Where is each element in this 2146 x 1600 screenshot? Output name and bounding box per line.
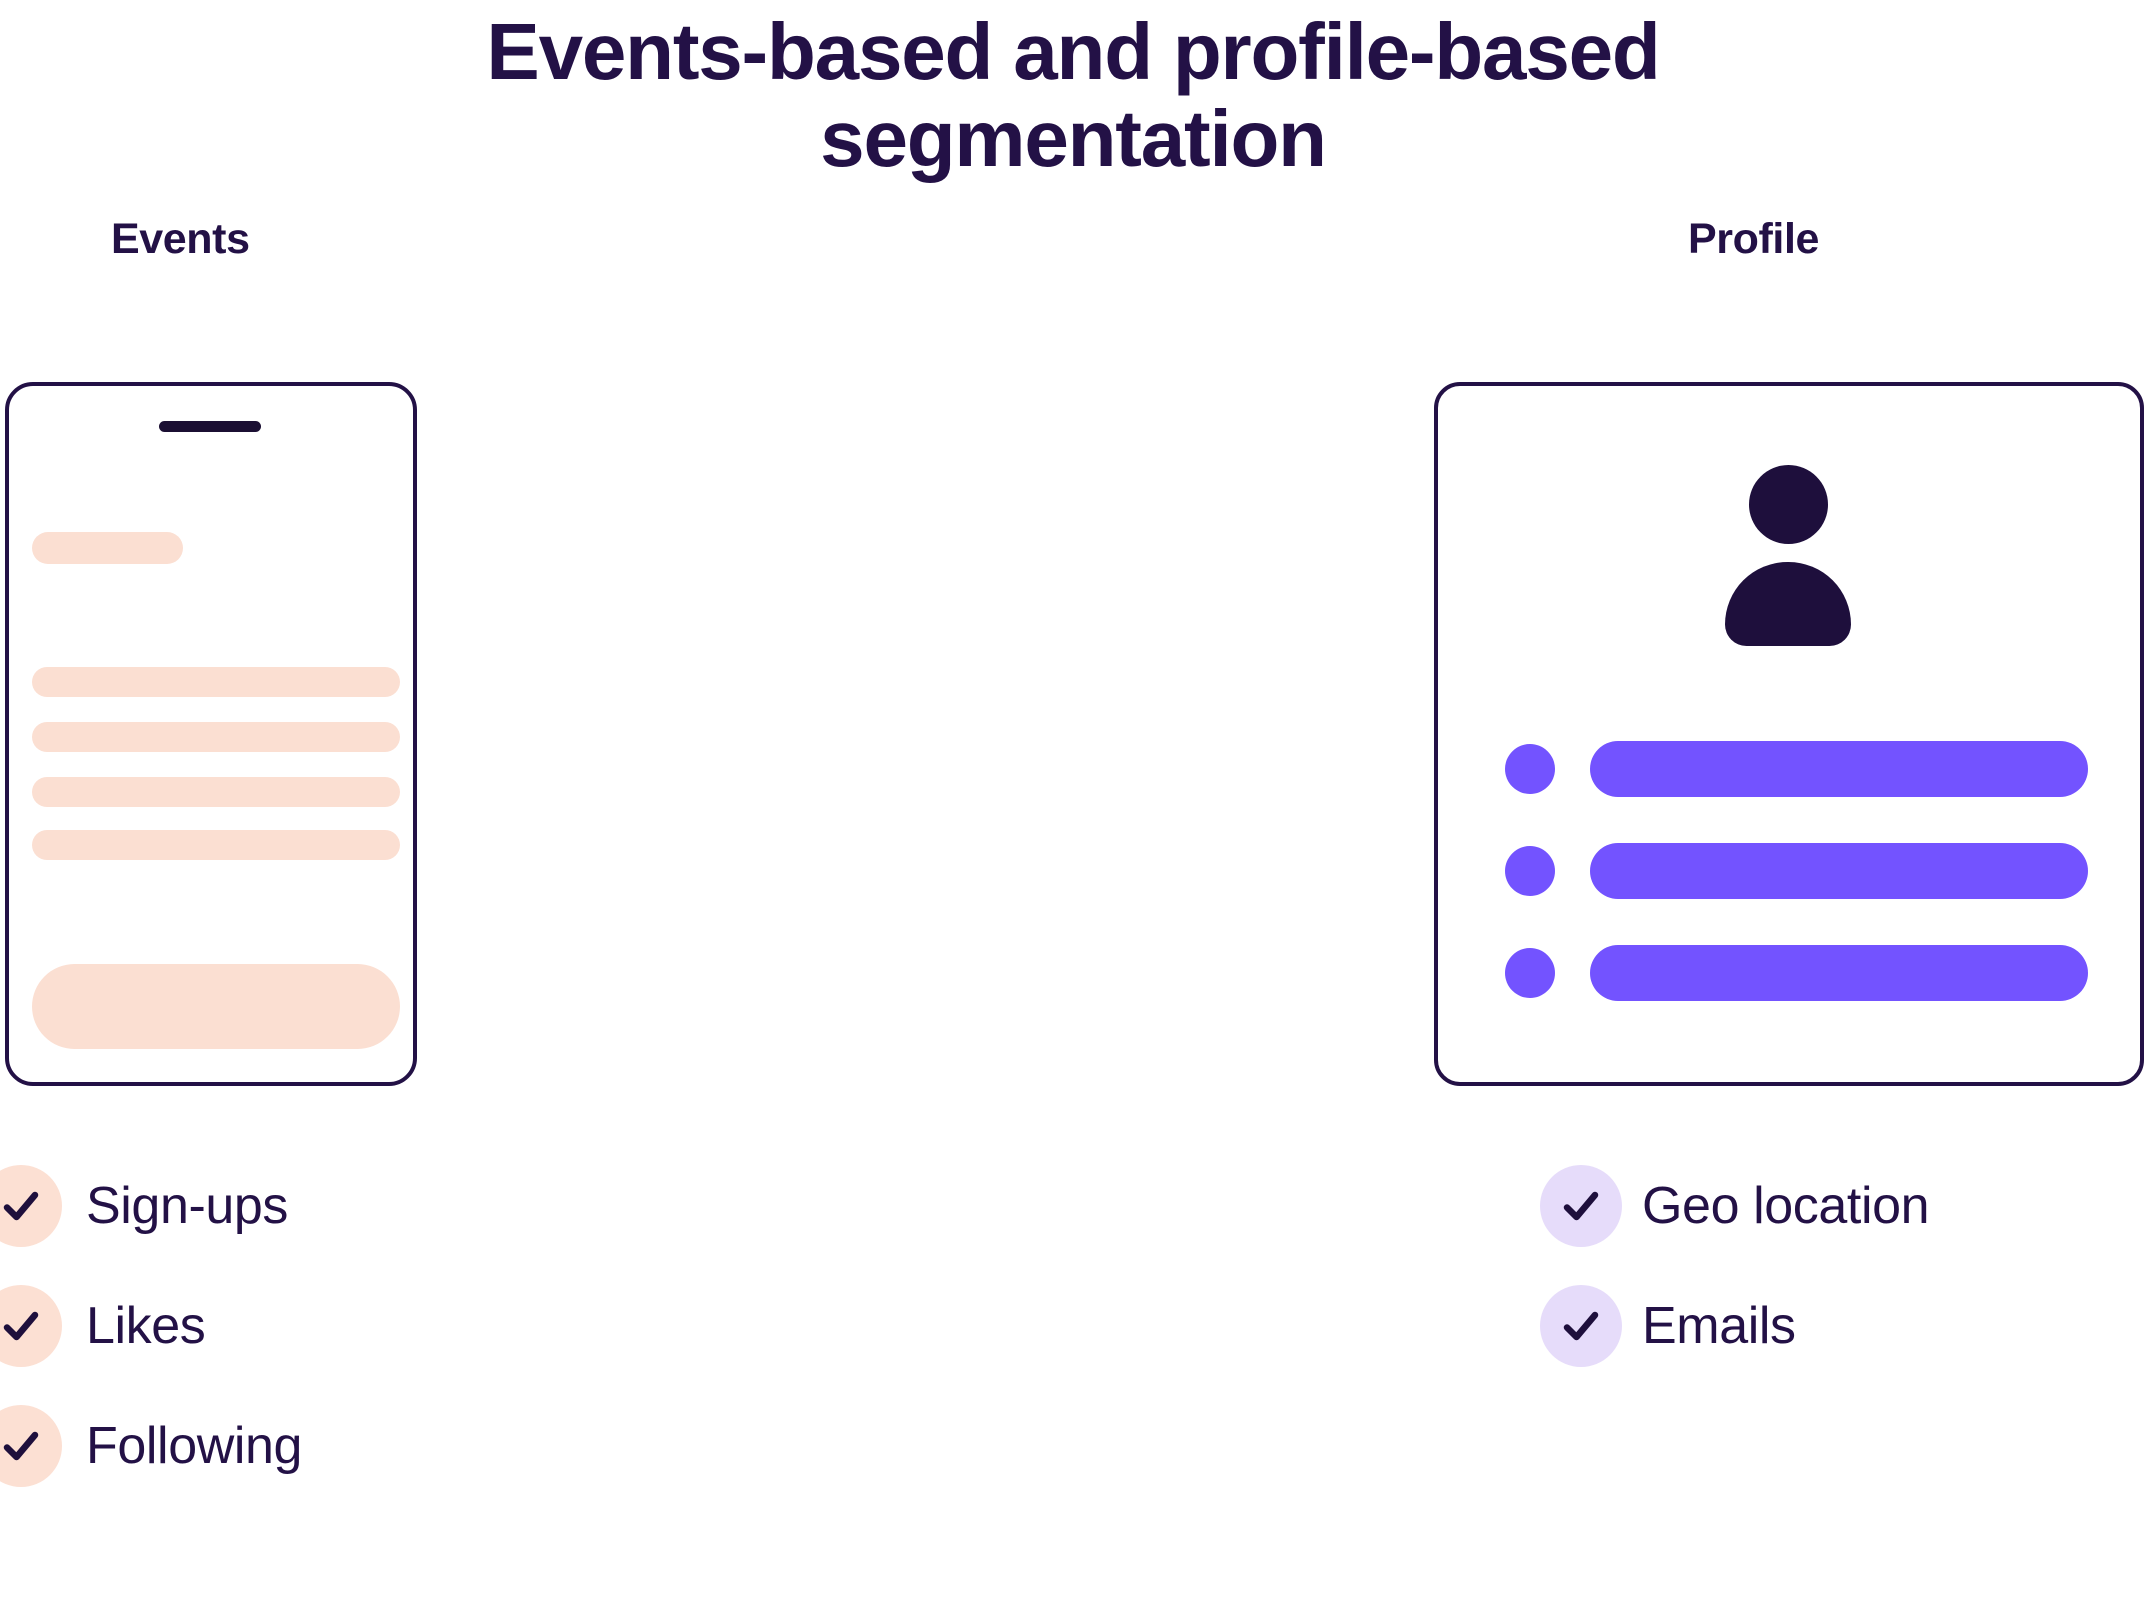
skeleton-footer-block (32, 964, 400, 1049)
profile-card-mockup (1434, 382, 2144, 1086)
list-item-label: Emails (1642, 1296, 1796, 1356)
list-item: Emails (1540, 1285, 1929, 1367)
check-icon (0, 1285, 62, 1367)
list-item-label: Geo location (1642, 1176, 1929, 1236)
skeleton-short-pill (32, 532, 183, 564)
check-icon (0, 1165, 62, 1247)
list-item-label: Sign-ups (86, 1176, 288, 1236)
attribute-bullet-icon (1505, 948, 1555, 998)
person-avatar-icon (1723, 465, 1853, 648)
attribute-value-bar (1590, 945, 2088, 1001)
avatar-body-shape (1725, 562, 1851, 646)
attribute-value-bar (1590, 741, 2088, 797)
skeleton-list-row-4 (32, 830, 400, 860)
events-phone-mockup (5, 382, 417, 1086)
phone-speaker-icon (159, 421, 261, 432)
profile-column-heading: Profile (1688, 215, 1819, 264)
events-column-heading: Events (111, 215, 250, 264)
skeleton-list-row-2 (32, 722, 400, 752)
list-item-label: Likes (86, 1296, 205, 1356)
check-icon (1540, 1165, 1622, 1247)
list-item: Geo location (1540, 1165, 1929, 1247)
list-item: Sign-ups (0, 1165, 302, 1247)
avatar-head-shape (1749, 465, 1828, 544)
attribute-value-bar (1590, 843, 2088, 899)
attribute-bullet-icon (1505, 846, 1555, 896)
list-item-label: Following (86, 1416, 302, 1476)
events-checklist: Sign-ups Likes Following (0, 1165, 302, 1525)
skeleton-list-row-1 (32, 667, 400, 697)
profile-checklist: Geo location Emails (1540, 1165, 1929, 1405)
list-item: Likes (0, 1285, 302, 1367)
page-title: Events-based and profile-based segmentat… (373, 8, 1773, 182)
skeleton-list-row-3 (32, 777, 400, 807)
attribute-bullet-icon (1505, 744, 1555, 794)
segmentation-illustration: Events-based and profile-based segmentat… (0, 0, 2146, 1600)
check-icon (0, 1405, 62, 1487)
list-item: Following (0, 1405, 302, 1487)
check-icon (1540, 1285, 1622, 1367)
